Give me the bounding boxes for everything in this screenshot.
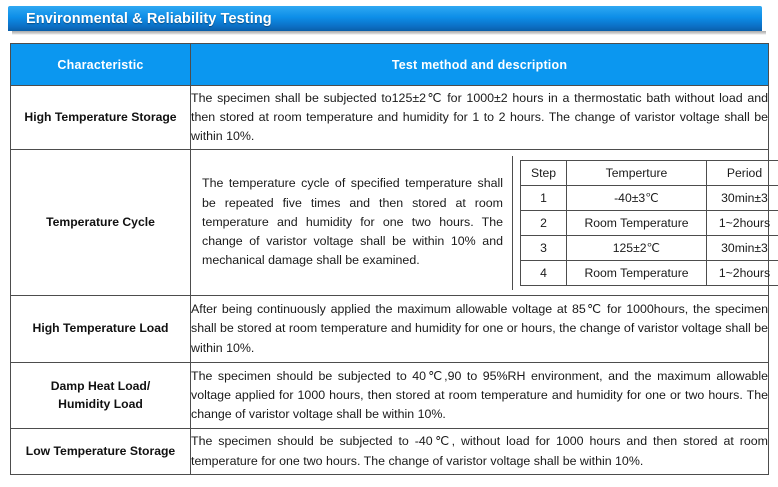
characteristic-damp-heat-load-line1: Damp Heat Load/ [11, 378, 190, 396]
step-number: 4 [521, 260, 567, 285]
banner-bar: Environmental & Reliability Testing [8, 6, 762, 31]
step-table-row: 2 Room Temperature 1~2hours [521, 210, 778, 235]
description-high-temperature-storage: The specimen shall be subjected to125±2℃… [191, 86, 769, 150]
step-temperature: 125±2℃ [567, 235, 707, 260]
step-column-header-period: Period [707, 160, 778, 185]
step-table-header-row: Step Temperture Period [521, 160, 778, 185]
step-number: 3 [521, 235, 567, 260]
step-temperature: Room Temperature [567, 210, 707, 235]
characteristic-damp-heat-load: Damp Heat Load/ Humidity Load [11, 363, 191, 429]
table-row: High Temperature Load After being contin… [11, 296, 769, 363]
page-root: Environmental & Reliability Testing Char… [0, 0, 778, 487]
characteristic-low-temperature-storage: Low Temperature Storage [11, 429, 191, 475]
step-column-header-step: Step [521, 160, 567, 185]
description-low-temperature-storage: The specimen should be subjected to -40℃… [191, 429, 769, 475]
step-table-holder: Step Temperture Period 1 -40±3℃ [513, 156, 778, 290]
step-table-row: 1 -40±3℃ 30min±3 [521, 185, 778, 210]
description-temperature-cycle: The temperature cycle of specified tempe… [191, 156, 513, 290]
temperature-cycle-step-table: Step Temperture Period 1 -40±3℃ [520, 160, 778, 286]
characteristic-high-temperature-load: High Temperature Load [11, 296, 191, 363]
characteristic-damp-heat-load-line2: Humidity Load [11, 396, 190, 414]
step-period: 30min±3 [707, 185, 778, 210]
table-row: High Temperature Storage The specimen sh… [11, 86, 769, 150]
characteristic-temperature-cycle: Temperature Cycle [11, 150, 191, 296]
characteristic-high-temperature-storage: High Temperature Storage [11, 86, 191, 150]
step-period: 1~2hours [707, 210, 778, 235]
step-table-row: 3 125±2℃ 30min±3 [521, 235, 778, 260]
column-header-test-method: Test method and description [191, 44, 769, 86]
column-header-characteristic: Characteristic [11, 44, 191, 86]
description-temperature-cycle-cell: The temperature cycle of specified tempe… [191, 150, 769, 296]
step-table-row: 4 Room Temperature 1~2hours [521, 260, 778, 285]
step-period: 1~2hours [707, 260, 778, 285]
table-row: Damp Heat Load/ Humidity Load The specim… [11, 363, 769, 429]
step-period: 30min±3 [707, 235, 778, 260]
table-header-row: Characteristic Test method and descripti… [11, 44, 769, 86]
step-temperature: Room Temperature [567, 260, 707, 285]
step-number: 1 [521, 185, 567, 210]
step-column-header-temperature: Temperture [567, 160, 707, 185]
description-high-temperature-load: After being continuously applied the max… [191, 296, 769, 363]
table-row: Low Temperature Storage The specimen sho… [11, 429, 769, 475]
page-title: Environmental & Reliability Testing [8, 11, 272, 27]
banner-drop-shadow [12, 31, 766, 35]
step-number: 2 [521, 210, 567, 235]
description-damp-heat-load: The specimen should be subjected to 40℃,… [191, 363, 769, 429]
reliability-test-table: Characteristic Test method and descripti… [10, 43, 769, 475]
table-row: Temperature Cycle The temperature cycle … [11, 150, 769, 296]
temperature-cycle-content: The temperature cycle of specified tempe… [191, 156, 768, 290]
section-banner: Environmental & Reliability Testing [8, 6, 766, 34]
step-temperature: -40±3℃ [567, 185, 707, 210]
